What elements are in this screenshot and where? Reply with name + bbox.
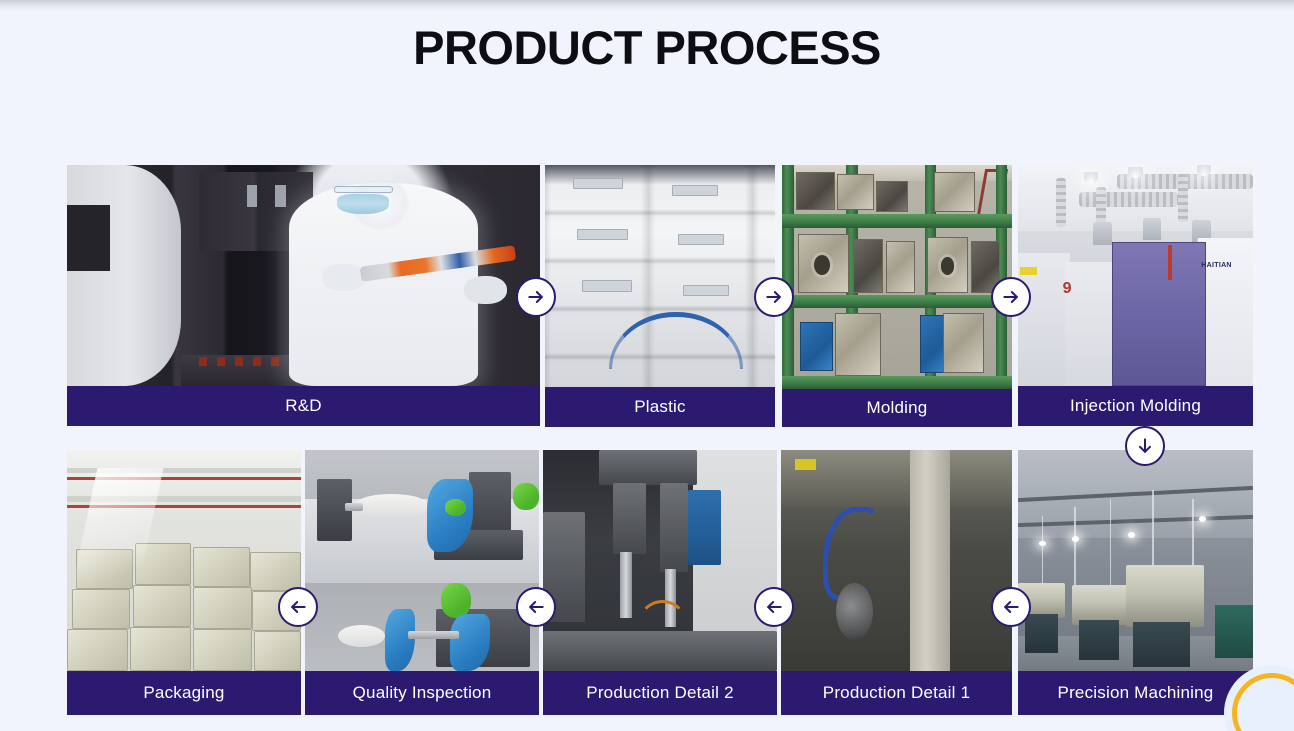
photo-detail xyxy=(385,609,415,671)
photo-detail xyxy=(1178,174,1189,223)
photo-detail xyxy=(1079,192,1178,207)
photo-detail xyxy=(1197,165,1211,176)
process-label-text: Molding xyxy=(867,398,928,418)
process-card-precision[interactable]: Precision Machining xyxy=(1018,450,1253,715)
photo-detail xyxy=(1084,172,1098,183)
process-label-packaging: Packaging xyxy=(67,671,301,715)
nav-arrow-left-1[interactable] xyxy=(991,587,1031,627)
photo-detail xyxy=(337,194,389,214)
process-card-molding[interactable]: Molding xyxy=(782,165,1012,427)
photo-detail xyxy=(836,583,873,640)
photo-detail xyxy=(683,285,729,296)
photo-detail xyxy=(943,313,984,373)
photo-detail xyxy=(1079,620,1119,660)
photo-detail xyxy=(835,313,881,376)
photo-detail xyxy=(289,183,478,386)
photo-detail xyxy=(193,547,249,587)
photo-detail xyxy=(672,185,718,196)
process-label-rd: R&D xyxy=(67,386,540,426)
process-photo-molding xyxy=(782,165,1012,389)
process-grid: R&D Plastic xyxy=(0,0,1294,731)
arrow-right-icon xyxy=(526,287,546,307)
photo-detail xyxy=(1039,541,1046,547)
photo-detail xyxy=(1112,242,1206,386)
nav-arrow-left-4[interactable] xyxy=(278,587,318,627)
photo-detail xyxy=(782,165,794,389)
photo-detail xyxy=(67,165,181,386)
photo-detail xyxy=(613,483,646,554)
process-label-quality: Quality Inspection xyxy=(305,671,539,715)
nav-arrow-left-2[interactable] xyxy=(754,587,794,627)
photo-detail xyxy=(445,499,466,517)
photo-machine-number: 9 xyxy=(1063,280,1072,298)
nav-arrow-right-1[interactable] xyxy=(516,277,556,317)
photo-detail xyxy=(1199,516,1206,522)
photo-detail xyxy=(800,322,832,371)
photo-detail xyxy=(275,185,285,207)
arrow-left-icon xyxy=(764,597,784,617)
photo-detail xyxy=(796,172,835,210)
photo-detail xyxy=(408,631,459,639)
photo-detail xyxy=(130,627,191,671)
process-card-plastic[interactable]: Plastic xyxy=(545,165,775,427)
photo-detail xyxy=(1056,178,1067,227)
process-photo-precision xyxy=(1018,450,1253,671)
photo-detail xyxy=(582,280,633,291)
photo-detail xyxy=(199,357,284,366)
photo-detail xyxy=(1025,614,1058,654)
process-label-detail1: Production Detail 1 xyxy=(781,671,1012,715)
photo-detail xyxy=(782,214,1012,227)
arrow-right-icon xyxy=(1001,287,1021,307)
photo-detail xyxy=(247,185,257,207)
photo-detail xyxy=(599,450,697,485)
photo-detail xyxy=(254,631,301,671)
photo-detail xyxy=(941,257,955,275)
photo-detail xyxy=(67,629,128,671)
photo-detail xyxy=(795,459,816,470)
photo-detail xyxy=(886,241,916,293)
process-photo-detail1 xyxy=(781,450,1012,671)
photo-detail xyxy=(1133,622,1189,666)
nav-arrow-right-2[interactable] xyxy=(754,277,794,317)
process-card-quality[interactable]: Quality Inspection xyxy=(305,450,539,715)
photo-detail xyxy=(1093,222,1112,244)
process-photo-packaging xyxy=(67,450,301,671)
process-label-text: Quality Inspection xyxy=(353,683,492,703)
process-card-detail2[interactable]: Production Detail 2 xyxy=(543,450,777,715)
photo-detail xyxy=(782,295,1012,308)
photo-detail xyxy=(1128,532,1135,538)
photo-detail xyxy=(322,264,365,291)
photo-detail xyxy=(782,376,1012,389)
photo-detail xyxy=(1128,167,1142,178)
arrow-down-icon xyxy=(1135,436,1155,456)
photo-detail xyxy=(577,229,628,240)
photo-detail xyxy=(573,178,624,189)
photo-detail xyxy=(193,629,252,671)
photo-detail xyxy=(250,552,301,592)
photo-detail xyxy=(1143,218,1162,240)
photo-detail xyxy=(934,172,975,212)
process-label-text: Injection Molding xyxy=(1070,396,1201,416)
photo-detail xyxy=(1168,245,1172,280)
photo-detail xyxy=(1072,536,1079,542)
photo-detail xyxy=(334,186,393,193)
process-photo-quality xyxy=(305,450,539,671)
photo-detail xyxy=(513,483,539,510)
photo-brand-text: HAITIAN xyxy=(1201,262,1232,269)
process-photo-detail2 xyxy=(543,450,777,671)
photo-detail xyxy=(67,205,110,271)
nav-arrow-left-3[interactable] xyxy=(516,587,556,627)
photo-detail xyxy=(1072,585,1128,625)
photo-detail xyxy=(338,625,385,647)
photo-detail xyxy=(133,585,192,627)
process-label-text: Production Detail 1 xyxy=(823,683,970,703)
photo-detail xyxy=(464,276,507,305)
arrow-left-icon xyxy=(288,597,308,617)
photo-detail xyxy=(193,587,252,629)
photo-detail xyxy=(688,490,721,565)
photo-detail xyxy=(814,255,830,275)
process-label-text: Packaging xyxy=(143,683,224,703)
photo-detail xyxy=(345,503,364,511)
process-card-packaging[interactable]: Packaging xyxy=(67,450,301,715)
process-card-detail1[interactable]: Production Detail 1 xyxy=(781,450,1012,715)
arrow-left-icon xyxy=(1001,597,1021,617)
process-label-detail2: Production Detail 2 xyxy=(543,671,777,715)
photo-detail xyxy=(441,583,471,618)
nav-arrow-right-3[interactable] xyxy=(991,277,1031,317)
process-card-injection[interactable]: 9 HAITIAN Injection Molding xyxy=(1018,165,1253,426)
process-label-text: Plastic xyxy=(634,397,685,417)
process-photo-rd xyxy=(67,165,540,386)
photo-detail xyxy=(853,239,883,293)
photo-detail xyxy=(678,234,724,245)
process-label-injection: Injection Molding xyxy=(1018,386,1253,426)
process-label-text: Precision Machining xyxy=(1058,683,1214,703)
photo-detail xyxy=(910,450,949,671)
photo-detail xyxy=(637,600,688,653)
process-photo-plastic xyxy=(545,165,775,387)
process-card-rd[interactable]: R&D xyxy=(67,165,540,426)
photo-detail xyxy=(876,181,908,212)
photo-detail xyxy=(660,483,688,571)
photo-detail xyxy=(620,552,632,618)
process-label-text: Production Detail 2 xyxy=(586,683,733,703)
arrow-left-icon xyxy=(526,597,546,617)
process-label-plastic: Plastic xyxy=(545,387,775,427)
photo-detail xyxy=(1110,499,1112,587)
photo-detail xyxy=(1074,507,1076,587)
arrow-right-icon xyxy=(764,287,784,307)
process-label-precision: Precision Machining xyxy=(1018,671,1253,715)
process-label-text: R&D xyxy=(285,396,322,416)
nav-arrow-down-1[interactable] xyxy=(1125,426,1165,466)
photo-detail xyxy=(837,174,874,210)
photo-detail xyxy=(1042,516,1044,587)
top-edge-shadow xyxy=(0,0,1294,12)
process-photo-injection: 9 HAITIAN xyxy=(1018,165,1253,386)
photo-detail xyxy=(1215,605,1253,658)
photo-detail xyxy=(1065,262,1117,386)
photo-detail xyxy=(1126,565,1204,627)
process-label-molding: Molding xyxy=(782,389,1012,427)
photo-detail xyxy=(781,450,1012,507)
photo-detail xyxy=(1020,267,1036,276)
